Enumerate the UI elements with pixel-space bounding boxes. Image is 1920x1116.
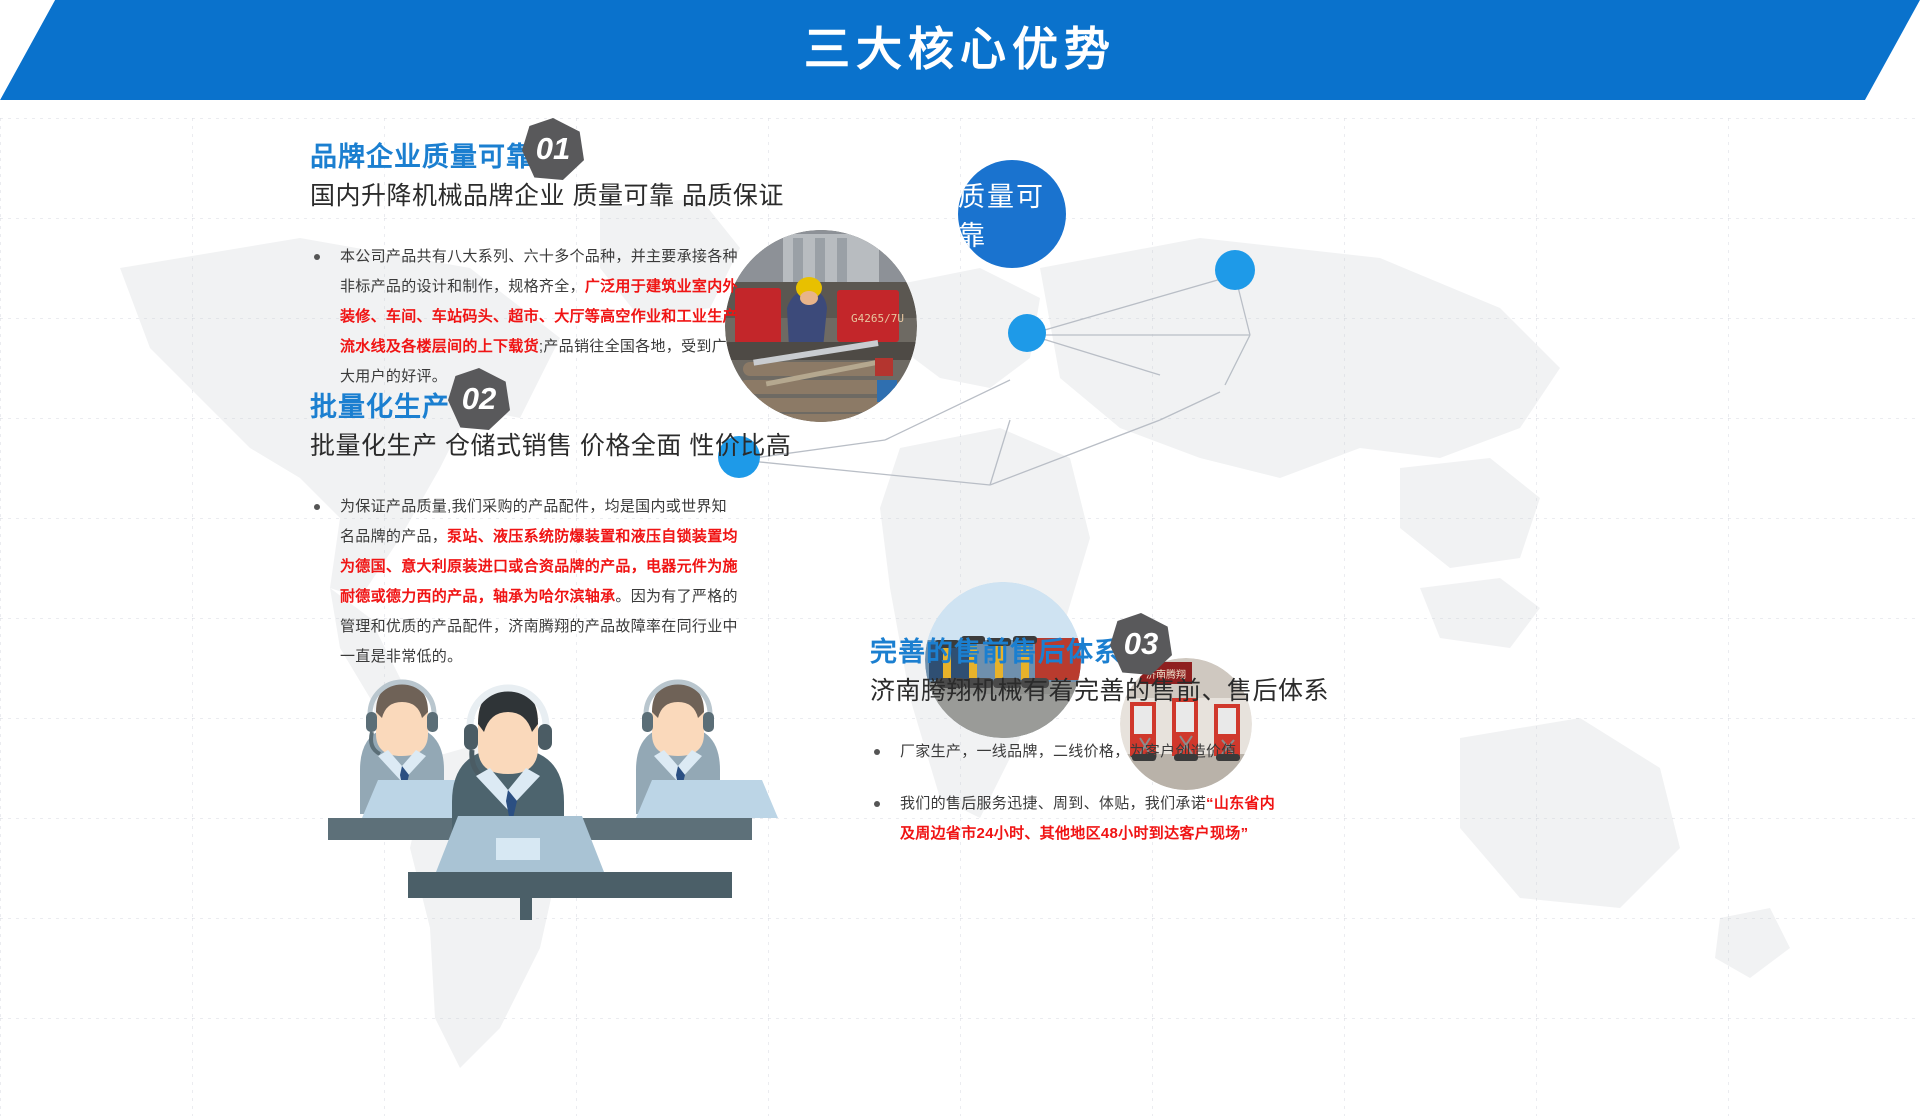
page-title: 三大核心优势 [0,0,1920,100]
section-01-title: 品牌企业质量可靠 [310,140,534,174]
section-03-bullets: 厂家生产，一线品牌，二线价格，为客户创造价值 我们的售后服务迅捷、周到、体贴，我… [870,737,1290,849]
desk-stand [520,898,532,920]
section-01-heading: 品牌企业质量可靠 01 [310,140,534,174]
dot-node-center [1008,314,1046,352]
dot-node-right [1215,250,1255,290]
section-01-subtitle: 国内升降机械品牌企业 质量可靠 品质保证 [310,176,740,216]
section-03: 完善的售前售后体系 03 济南腾翔机械有着完善的售前、售后体系 厂家生产，一线品… [870,635,1290,871]
body-text: 我们的售后服务迅捷、周到、体贴，我们承诺 [900,795,1206,812]
section-02-bullets: 为保证产品质量,我们采购的产品配件，均是国内或世界知名品牌的产品，泵站、液压系统… [310,492,740,672]
desk-front [408,872,732,898]
section-03-subtitle: 济南腾翔机械有着完善的售前、售后体系 [870,671,1290,711]
section-02: 批量化生产 02 批量化生产 仓储式销售 价格全面 性价比高 为保证产品质量,我… [310,390,740,694]
section-02-subtitle: 批量化生产 仓储式销售 价格全面 性价比高 [310,426,740,466]
section-03-title: 完善的售前售后体系 [870,635,1122,669]
bullet-item: 为保证产品质量,我们采购的产品配件，均是国内或世界知名品牌的产品，泵站、液压系统… [310,492,740,672]
bullet-item: 本公司产品共有八大系列、六十多个品种，并主要承接各种非标产品的设计和制作，规格齐… [310,242,740,392]
section-02-heading: 批量化生产 02 [310,390,450,424]
hub-label: 质量可靠 [958,175,1066,253]
section-01: 品牌企业质量可靠 01 国内升降机械品牌企业 质量可靠 品质保证 本公司产品共有… [310,140,740,414]
section-01-bullets: 本公司产品共有八大系列、六十多个品种，并主要承接各种非标产品的设计和制作，规格齐… [310,242,740,392]
hub-quality-reliable: 质量可靠 [958,160,1066,268]
photo-factory-cutting: G4265/7U [725,230,917,422]
svg-text:G4265/7U: G4265/7U [851,312,904,325]
section-03-heading: 完善的售前售后体系 03 [870,635,1122,669]
section-02-title: 批量化生产 [310,390,450,424]
bullet-item: 厂家生产，一线品牌，二线价格，为客户创造价值 [870,737,1290,767]
bullet-item: 我们的售后服务迅捷、周到、体贴，我们承诺“山东省内及周边省市24小时、其他地区4… [870,789,1290,849]
laptop-right [636,780,778,818]
body-text: 厂家生产，一线品牌，二线价格，为客户创造价值 [900,743,1237,760]
